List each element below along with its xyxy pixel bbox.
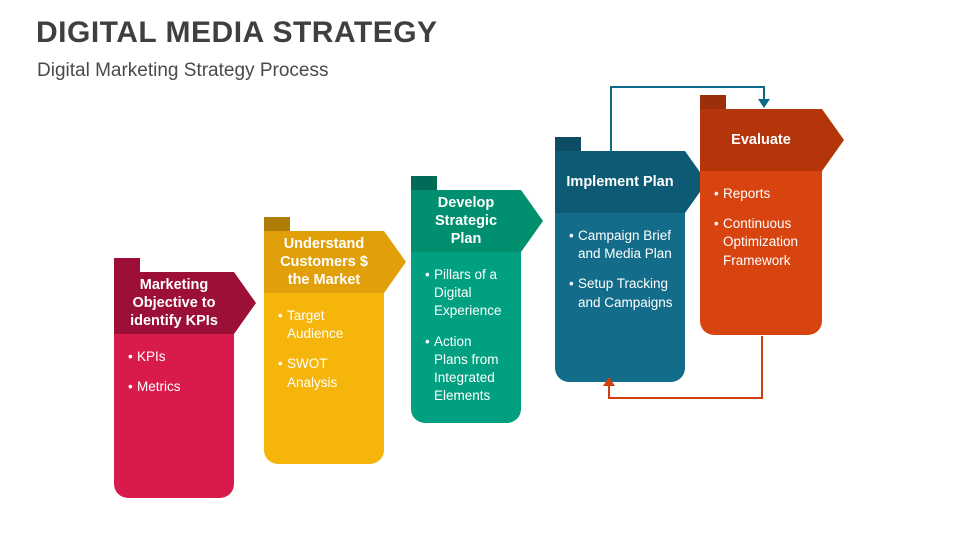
slide-canvas: DIGITAL MEDIA STRATEGY Digital Marketing… — [0, 0, 960, 540]
list-item: Pillars of a Digital Experience — [434, 266, 509, 321]
stage-understand-arrow-point — [384, 231, 406, 293]
connector-arrowhead-down-icon — [758, 99, 770, 108]
stage-evaluate-arrow-point — [822, 109, 844, 171]
stage-understand[interactable]: Understand Customers $ the Market Target… — [264, 217, 384, 464]
stage-understand-bullets: Target Audience SWOT Analysis — [264, 307, 384, 404]
stage-understand-header: Understand Customers $ the Market — [264, 231, 384, 293]
stage-develop-header: Develop Strategic Plan — [411, 190, 521, 252]
page-subtitle: Digital Marketing Strategy Process — [37, 60, 328, 82]
connector-vertical-left — [608, 385, 610, 399]
stage-implement-title: Implement Plan — [566, 173, 673, 191]
stage-objective-arrow-point — [234, 272, 256, 334]
list-item: Target Audience — [287, 307, 372, 343]
stage-develop-bullets: Pillars of a Digital Experience Action P… — [411, 266, 521, 418]
connector-horizontal — [610, 86, 765, 88]
connector-vertical-right — [763, 86, 765, 100]
stage-understand-tab — [264, 217, 290, 231]
list-item: Campaign Brief and Media Plan — [578, 227, 673, 263]
connector-vertical-right — [761, 336, 763, 399]
stage-objective-tab — [114, 258, 140, 272]
list-item: Metrics — [137, 378, 222, 396]
list-item: KPIs — [137, 348, 222, 366]
stage-develop-tab — [411, 176, 437, 190]
stage-implement-header: Implement Plan — [555, 151, 685, 213]
stage-understand-title: Understand Customers $ the Market — [272, 235, 376, 289]
stage-implement-bullets: Campaign Brief and Media Plan Setup Trac… — [555, 227, 685, 324]
page-title: DIGITAL MEDIA STRATEGY — [36, 16, 438, 50]
connector-vertical-left — [610, 86, 612, 152]
stage-objective-bullets: KPIs Metrics — [114, 348, 234, 408]
stage-develop-title: Develop Strategic Plan — [419, 194, 513, 248]
stage-develop-arrow-point — [521, 190, 543, 252]
stage-implement-tab — [555, 137, 581, 151]
stage-evaluate-bullets: Reports Continuous Optimization Framewor… — [700, 185, 822, 282]
connector-implement-to-evaluate — [610, 86, 765, 152]
list-item: Reports — [723, 185, 810, 203]
stage-objective[interactable]: Marketing Objective to identify KPIs KPI… — [114, 258, 234, 498]
connector-horizontal — [608, 397, 763, 399]
connector-arrowhead-up-icon — [603, 377, 615, 386]
list-item: Action Plans from Integrated Elements — [434, 333, 509, 406]
list-item: SWOT Analysis — [287, 355, 372, 391]
stage-objective-header: Marketing Objective to identify KPIs — [114, 272, 234, 334]
connector-evaluate-to-implement — [608, 336, 763, 399]
list-item: Setup Tracking and Campaigns — [578, 275, 673, 311]
stage-objective-title: Marketing Objective to identify KPIs — [122, 276, 226, 330]
stage-develop[interactable]: Develop Strategic Plan Pillars of a Digi… — [411, 176, 521, 423]
list-item: Continuous Optimization Framework — [723, 215, 810, 270]
